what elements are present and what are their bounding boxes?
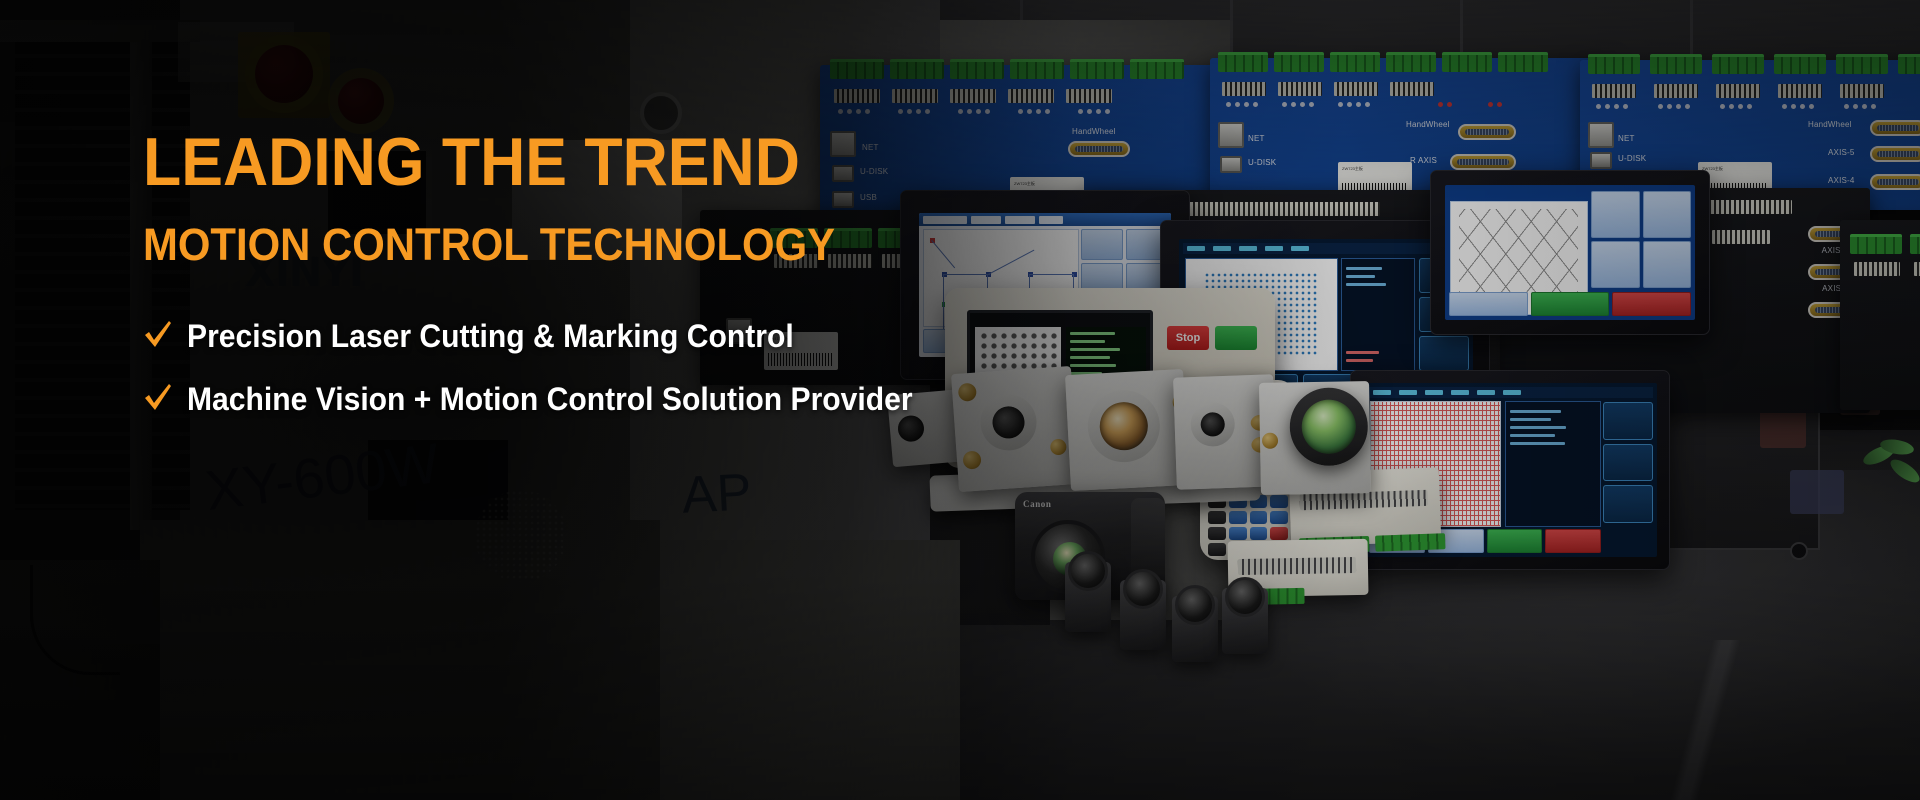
industrial-camera xyxy=(1065,562,1111,632)
machine-base xyxy=(660,540,960,800)
machine-base xyxy=(140,520,660,800)
start-button[interactable] xyxy=(1487,529,1543,553)
hero-banner: XINYI XY-600W AP xyxy=(0,0,1920,800)
start-button[interactable] xyxy=(1531,292,1610,316)
screen-status-bar xyxy=(1183,243,1469,254)
pcb-label-handwheel: HandWheel xyxy=(1406,120,1450,129)
check-icon xyxy=(143,383,173,413)
product-collage: NET U-DISK USB HandWheel ZW723主板 xyxy=(960,40,1920,620)
pcb-label-net: NET xyxy=(1248,134,1265,143)
start-button[interactable] xyxy=(1215,326,1257,350)
laser-optic-module xyxy=(1065,369,1189,491)
machine-brand-label: AP xyxy=(680,462,752,526)
pcb-label-udisk: U-DISK xyxy=(1248,158,1276,167)
rack-top-bar xyxy=(0,20,200,42)
emergency-stop-button[interactable] xyxy=(255,45,313,103)
screen-info-panel xyxy=(1341,258,1415,371)
hmi-screen-nesting[interactable] xyxy=(1445,185,1695,320)
list-item: Precision Laser Cutting & Marking Contro… xyxy=(143,319,1083,354)
pcb-label-axis4: AXIS-4 xyxy=(1828,176,1855,185)
hero-content: LEADING THE TREND MOTION CONTROL TECHNOL… xyxy=(143,128,1083,445)
pcb-label-axis5: AXIS-5 xyxy=(1828,148,1855,157)
industrial-camera xyxy=(1172,596,1218,662)
industrial-camera xyxy=(1120,580,1166,650)
stop-button[interactable]: Stop xyxy=(1167,326,1209,350)
pcb-label-handwheel: HandWheel xyxy=(1808,120,1852,129)
floor-marking-line xyxy=(1500,640,1920,800)
hmi-touchscreen[interactable] xyxy=(1430,170,1710,335)
screen-side-buttons[interactable] xyxy=(1603,402,1653,523)
screen-action-buttons[interactable] xyxy=(1449,292,1691,316)
industrial-camera xyxy=(1222,588,1268,654)
pcb-label-net: NET xyxy=(1618,134,1635,143)
list-item: Machine Vision + Motion Control Solution… xyxy=(143,382,1083,417)
machine-vent-mesh xyxy=(475,490,567,582)
hero-subheadline: MOTION CONTROL TECHNOLOGY xyxy=(143,222,1017,267)
stop-button[interactable] xyxy=(1545,529,1601,553)
screen-status-bar xyxy=(1369,387,1653,398)
laser-scan-head xyxy=(1259,381,1371,495)
screen-button-grid[interactable] xyxy=(1591,191,1691,288)
camera-brand-label: Canon xyxy=(1023,499,1052,509)
emergency-stop-button[interactable] xyxy=(338,78,384,124)
pcb-label-raxis: R AXIS xyxy=(1410,156,1437,165)
driver-board xyxy=(1840,220,1920,410)
stop-button[interactable] xyxy=(1612,292,1691,316)
check-icon xyxy=(143,320,173,350)
bullet-text: Precision Laser Cutting & Marking Contro… xyxy=(187,319,794,354)
potted-plant xyxy=(1858,438,1920,528)
bullet-text: Machine Vision + Motion Control Solution… xyxy=(187,382,913,417)
hero-headline: LEADING THE TREND xyxy=(143,128,1008,196)
screen-info-panel xyxy=(1505,401,1601,527)
hero-bullet-list: Precision Laser Cutting & Marking Contro… xyxy=(143,319,1083,417)
pcb-label-udisk: U-DISK xyxy=(1618,154,1646,163)
